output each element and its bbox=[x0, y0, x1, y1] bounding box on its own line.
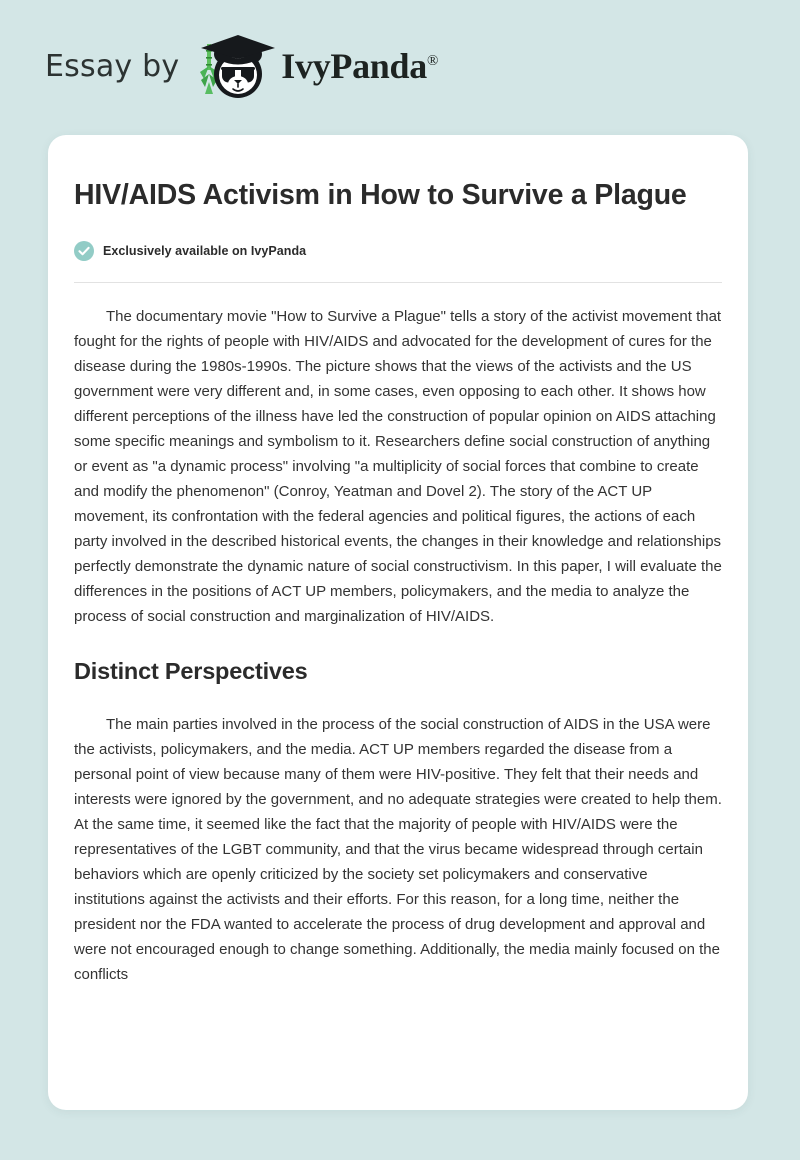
page-title: HIV/AIDS Activism in How to Survive a Pl… bbox=[74, 177, 699, 215]
body-paragraph: The main parties involved in the process… bbox=[74, 686, 722, 987]
registered-mark: ® bbox=[427, 53, 438, 69]
wordmark-text: IvyPanda bbox=[281, 46, 427, 86]
ivypanda-wordmark[interactable]: IvyPanda® bbox=[281, 48, 438, 88]
essay-card: HIV/AIDS Activism in How to Survive a Pl… bbox=[48, 135, 748, 1110]
status-badge-label: Exclusively available on IvyPanda bbox=[103, 244, 306, 258]
section-heading: Distinct Perspectives bbox=[74, 629, 722, 686]
body-paragraph: The documentary movie "How to Survive a … bbox=[74, 283, 722, 629]
essay-by-label: Essay by bbox=[45, 52, 179, 84]
check-circle-icon bbox=[74, 241, 94, 261]
status-badge: Exclusively available on IvyPanda bbox=[74, 241, 722, 261]
essay-content: HIV/AIDS Activism in How to Survive a Pl… bbox=[48, 135, 748, 987]
panda-graduate-logo-icon[interactable] bbox=[191, 32, 277, 104]
brand-header: Essay by bbox=[0, 0, 800, 135]
